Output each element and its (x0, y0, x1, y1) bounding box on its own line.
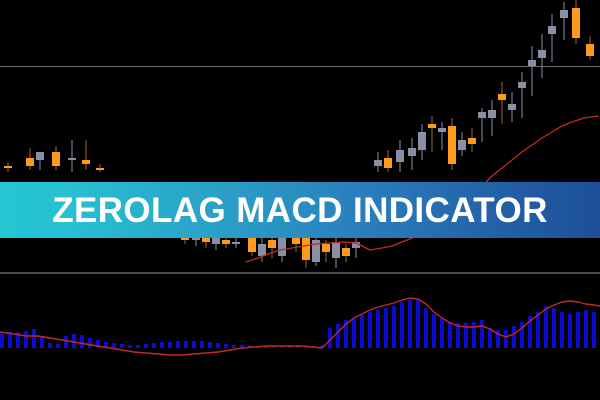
macd-histogram-bar (576, 312, 580, 348)
candlestick (268, 236, 276, 258)
macd-histogram-bar (400, 302, 404, 348)
candlestick (448, 118, 456, 170)
candlestick (26, 148, 34, 170)
candlestick (498, 82, 506, 124)
candlestick (418, 124, 426, 160)
macd-histogram-bar (8, 332, 12, 348)
macd-histogram-bar (568, 314, 572, 348)
macd-histogram-bar (0, 334, 4, 348)
screenshot-root: ZEROLAG MACD INDICATOR (0, 0, 600, 400)
candlestick (302, 234, 310, 268)
macd-histogram-bar (184, 341, 188, 348)
macd-histogram-bar (336, 324, 340, 348)
macd-histogram-bar (424, 308, 428, 348)
candlestick (258, 238, 266, 262)
macd-histogram-bar (128, 345, 132, 348)
macd-histogram-bar (120, 344, 124, 348)
macd-histogram-bar (352, 318, 356, 348)
macd-histogram-bar (584, 310, 588, 348)
macd-histogram-bar (144, 344, 148, 348)
macd-histogram-bar (88, 338, 92, 348)
candlestick (36, 152, 44, 170)
macd-histogram-bar (80, 335, 84, 348)
candlestick (4, 162, 12, 172)
macd-histogram-bar (504, 330, 508, 348)
candlestick (312, 236, 320, 266)
candlestick (278, 234, 286, 262)
banner-title: ZEROLAG MACD INDICATOR (52, 193, 548, 228)
macd-chart-canvas (0, 274, 600, 400)
macd-histogram-bar (192, 341, 196, 348)
macd-histogram-bar (416, 300, 420, 348)
macd-histogram-bar (56, 344, 60, 348)
candlestick (96, 164, 104, 172)
macd-histogram-bar (32, 329, 36, 348)
macd-histogram-bar (488, 328, 492, 348)
candlestick (508, 92, 516, 122)
macd-histogram-bar (208, 342, 212, 348)
macd-histogram-bar (232, 345, 236, 348)
macd-histogram-bar (432, 314, 436, 348)
macd-histogram-bar (152, 343, 156, 348)
macd-histogram-bar (368, 312, 372, 348)
candlestick (458, 132, 466, 156)
macd-histogram-bar (472, 322, 476, 348)
macd-histogram-bar (592, 312, 596, 348)
macd-histogram-bar (224, 344, 228, 348)
candlestick (438, 122, 446, 150)
candlestick (478, 108, 486, 142)
candlestick (586, 36, 594, 60)
macd-histogram-bar (64, 336, 68, 348)
macd-histogram-bar (552, 308, 556, 348)
candlestick (232, 238, 240, 248)
candlestick (518, 72, 526, 118)
macd-histogram-bar (112, 343, 116, 348)
candlestick (82, 140, 90, 170)
macd-histogram-bar (376, 310, 380, 348)
candlestick (468, 128, 476, 152)
candlestick (560, 2, 568, 40)
candlestick (384, 150, 392, 172)
candlestick (538, 34, 546, 78)
candlestick (548, 14, 556, 62)
candlestick (342, 244, 350, 262)
macd-histogram-bar (200, 341, 204, 348)
candlestick (352, 238, 360, 258)
macd-histogram-bar (216, 343, 220, 348)
macd-histogram-bar (512, 326, 516, 348)
macd-histogram-bar (168, 342, 172, 348)
macd-histogram-bar (160, 342, 164, 348)
macd-histogram-bar (176, 341, 180, 348)
macd-histogram-bar (136, 345, 140, 348)
candlestick (572, 0, 580, 44)
candlestick (408, 138, 416, 170)
macd-histogram-bar (560, 312, 564, 348)
macd-histogram-bar (408, 300, 412, 348)
price-gridline (0, 66, 600, 67)
macd-histogram-bar (40, 336, 44, 348)
title-banner: ZEROLAG MACD INDICATOR (0, 182, 600, 238)
candlestick (374, 152, 382, 172)
macd-histogram-bar (360, 315, 364, 348)
macd-histogram-bar (480, 320, 484, 348)
macd-histogram-bar (392, 306, 396, 348)
macd-histogram-bar (440, 318, 444, 348)
candlestick (396, 140, 404, 172)
candlestick (52, 146, 60, 170)
macd-histogram-bar (536, 312, 540, 348)
candlestick (528, 46, 536, 96)
candlestick (488, 100, 496, 136)
macd-histogram-bar (544, 306, 548, 348)
candlestick (68, 140, 76, 172)
candlestick (428, 116, 436, 152)
macd-histogram-bar (48, 343, 52, 348)
macd-indicator-panel (0, 274, 600, 400)
macd-histogram-bar (72, 334, 76, 348)
macd-histogram-bar (384, 308, 388, 348)
macd-histogram-bar (448, 322, 452, 348)
macd-histogram-bar (24, 331, 28, 348)
